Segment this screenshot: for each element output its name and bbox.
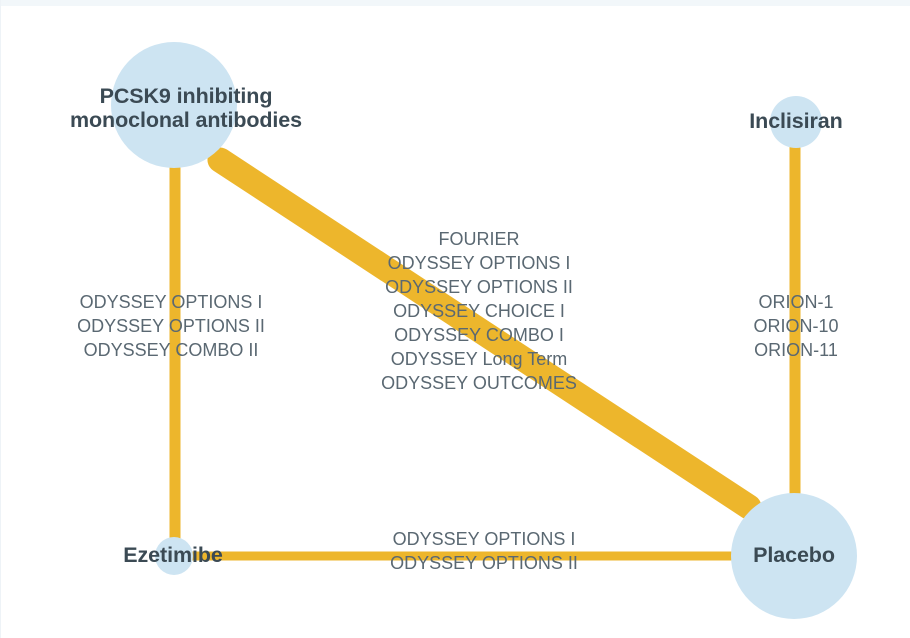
trial-name: ODYSSEY Long Term: [353, 348, 605, 372]
node-label-ezetimibe: Ezetimibe: [73, 543, 273, 567]
edge-label-pcsk9-placebo: FOURIER ODYSSEY OPTIONS I ODYSSEY OPTION…: [353, 228, 605, 396]
trial-name: FOURIER: [353, 228, 605, 252]
trial-name: ODYSSEY OPTIONS I: [353, 252, 605, 276]
trial-name: ODYSSEY OPTIONS II: [359, 552, 609, 576]
node-label-pcsk9-line1: PCSK9 inhibiting: [21, 84, 351, 108]
edge-label-inclisiran-placebo: ORION-1 ORION-10 ORION-11: [735, 291, 857, 363]
edge-label-ezetimibe-placebo: ODYSSEY OPTIONS I ODYSSEY OPTIONS II: [359, 528, 609, 576]
trial-name: ODYSSEY OPTIONS I: [53, 291, 289, 315]
trial-name: ODYSSEY OPTIONS I: [359, 528, 609, 552]
node-label-pcsk9: PCSK9 inhibiting monoclonal antibodies: [21, 84, 351, 132]
trial-name: ORION-11: [735, 339, 857, 363]
node-label-placebo: Placebo: [701, 543, 887, 567]
node-label-pcsk9-line2: monoclonal antibodies: [21, 108, 351, 132]
trial-name: ODYSSEY COMBO I: [353, 324, 605, 348]
edge-label-pcsk9-ezetimibe: ODYSSEY OPTIONS I ODYSSEY OPTIONS II ODY…: [53, 291, 289, 363]
trial-name: ORION-10: [735, 315, 857, 339]
trial-name: ORION-1: [735, 291, 857, 315]
trial-name: ODYSSEY COMBO II: [53, 339, 289, 363]
node-label-inclisiran: Inclisiran: [701, 109, 891, 133]
trial-name: ODYSSEY OPTIONS II: [53, 315, 289, 339]
trial-name: ODYSSEY CHOICE I: [353, 300, 605, 324]
trial-name: ODYSSEY OPTIONS II: [353, 276, 605, 300]
trial-name: ODYSSEY OUTCOMES: [353, 372, 605, 396]
network-diagram-canvas: PCSK9 inhibiting monoclonal antibodies I…: [0, 0, 910, 638]
